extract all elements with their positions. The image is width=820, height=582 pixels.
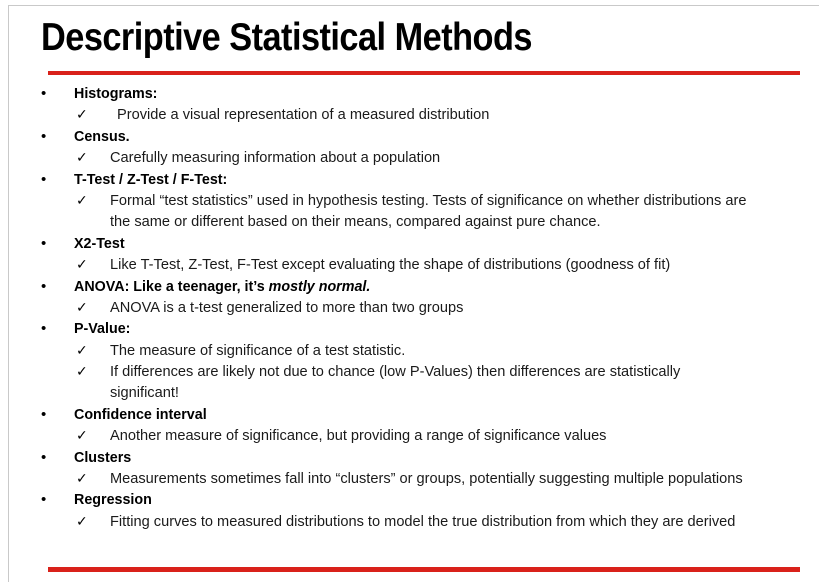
bullet-dot-icon: • — [41, 448, 46, 468]
list-item-sub-label: Measurements sometimes fall into “cluste… — [110, 469, 743, 489]
bullet-dot-icon: • — [41, 405, 46, 425]
list-item-sub-label: ANOVA is a t-test generalized to more th… — [110, 298, 463, 318]
checkmark-icon: ✓ — [76, 191, 88, 211]
bullet-dot-icon: • — [41, 319, 46, 339]
list-item-sub-label: If differences are likely not due to cha… — [110, 362, 680, 382]
list-item-sub: ✓Carefully measuring information about a… — [0, 148, 820, 169]
list-item-sub: ✓Like T-Test, Z-Test, F-Test except eval… — [0, 255, 820, 276]
list-item-heading-label: Regression — [74, 490, 152, 510]
list-item-heading: •P-Value: — [0, 319, 820, 340]
list-item-sub: ✓Fitting curves to measured distribution… — [0, 512, 820, 533]
checkmark-icon: ✓ — [76, 298, 88, 318]
list-item-sub: ✓Provide a visual representation of a me… — [0, 105, 820, 126]
list-item-sub-continuation-label: the same or different based on their mea… — [110, 212, 601, 232]
list-item-sub-label: Provide a visual representation of a mea… — [117, 105, 489, 125]
checkmark-icon: ✓ — [76, 148, 88, 168]
title-divider-rule — [48, 71, 800, 75]
bullet-dot-icon: • — [41, 234, 46, 254]
list-item-sub: ✓If differences are likely not due to ch… — [0, 362, 820, 383]
footer-divider-rule — [48, 567, 800, 572]
list-item-heading: •T-Test / Z-Test / F-Test: — [0, 170, 820, 191]
bullet-list: •Histograms:✓Provide a visual representa… — [0, 84, 820, 533]
list-item-heading-emphasis: mostly normal. — [269, 279, 371, 295]
list-item-heading-label: ANOVA: Like a teenager, it’s mostly norm… — [74, 277, 370, 297]
list-item-sub: ✓Measurements sometimes fall into “clust… — [0, 469, 820, 490]
bullet-dot-icon: • — [41, 490, 46, 510]
list-item-heading-label: P-Value: — [74, 319, 130, 339]
list-item-heading: •Histograms: — [0, 84, 820, 105]
list-item-heading: •ANOVA: Like a teenager, it’s mostly nor… — [0, 277, 820, 298]
checkmark-icon: ✓ — [76, 362, 88, 382]
checkmark-icon: ✓ — [76, 341, 88, 361]
checkmark-icon: ✓ — [76, 255, 88, 275]
list-item-sub-label: Formal “test statistics” used in hypothe… — [110, 191, 746, 211]
list-item-sub-continuation: the same or different based on their mea… — [0, 212, 820, 233]
list-item-sub-continuation-label: significant! — [110, 383, 179, 403]
slide: Descriptive Statistical Methods •Histogr… — [0, 0, 820, 582]
list-item-heading-label: X2-Test — [74, 234, 125, 254]
list-item-heading-label: Confidence interval — [74, 405, 207, 425]
list-item-sub-label: Another measure of significance, but pro… — [110, 426, 606, 446]
list-item-sub-label: Fitting curves to measured distributions… — [110, 512, 735, 532]
list-item-heading-label: Census. — [74, 127, 130, 147]
list-item-heading: •Clusters — [0, 448, 820, 469]
list-item-sub-label: Like T-Test, Z-Test, F-Test except evalu… — [110, 255, 670, 275]
list-item-sub: ✓Formal “test statistics” used in hypoth… — [0, 191, 820, 212]
bullet-dot-icon: • — [41, 277, 46, 297]
page-title: Descriptive Statistical Methods — [41, 15, 692, 61]
checkmark-icon: ✓ — [76, 105, 88, 125]
list-item-heading: •X2-Test — [0, 234, 820, 255]
list-item-sub-continuation: significant! — [0, 383, 820, 404]
checkmark-icon: ✓ — [76, 426, 88, 446]
list-item-sub: ✓The measure of significance of a test s… — [0, 341, 820, 362]
list-item-heading-label: Clusters — [74, 448, 131, 468]
list-item-heading: •Confidence interval — [0, 405, 820, 426]
list-item-sub-label: The measure of significance of a test st… — [110, 341, 405, 361]
bullet-dot-icon: • — [41, 127, 46, 147]
checkmark-icon: ✓ — [76, 512, 88, 532]
bullet-dot-icon: • — [41, 84, 46, 104]
list-item-sub-label: Carefully measuring information about a … — [110, 148, 440, 168]
bullet-dot-icon: • — [41, 170, 46, 190]
list-item-heading: •Census. — [0, 127, 820, 148]
checkmark-icon: ✓ — [76, 469, 88, 489]
list-item-heading-label: T-Test / Z-Test / F-Test: — [74, 170, 227, 190]
list-item-heading: •Regression — [0, 490, 820, 511]
list-item-sub: ✓Another measure of significance, but pr… — [0, 426, 820, 447]
list-item-heading-label: Histograms: — [74, 84, 157, 104]
list-item-sub: ✓ANOVA is a t-test generalized to more t… — [0, 298, 820, 319]
